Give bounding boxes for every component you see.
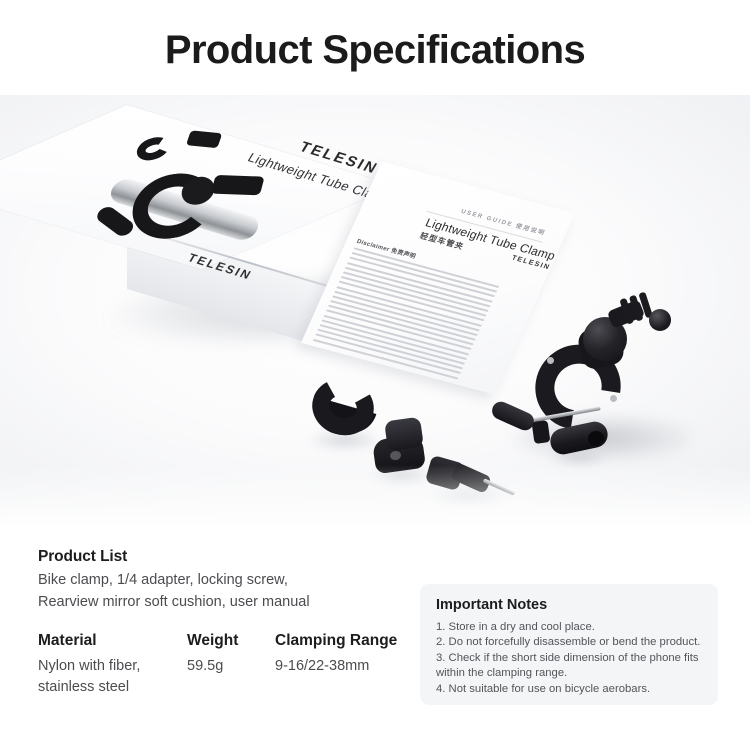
spec-value-material-line-1: Nylon with fiber, <box>38 658 140 674</box>
clamp-pivot-pin-upper <box>547 357 554 364</box>
gopro-mount-thumbscrew <box>649 309 671 331</box>
spec-value-weight: 59.5g <box>187 656 223 677</box>
spec-table: Material Weight Clamping Range Nylon wit… <box>38 632 438 656</box>
spec-value-clamping-range: 9-16/22-38mm <box>275 656 369 677</box>
product-list-line-2: Rearview mirror soft cushion, user manua… <box>38 594 310 610</box>
locking-screw <box>428 453 524 511</box>
spec-header-weight: Weight <box>187 632 238 650</box>
important-note-item: within the clamping range. <box>436 666 703 681</box>
product-list-heading: Product List <box>38 548 438 566</box>
quarter-inch-adapter <box>372 417 438 479</box>
adapter-top <box>384 417 424 452</box>
spec-value-material-line-2: stainless steel <box>38 679 129 695</box>
cushion-ring <box>305 372 380 443</box>
important-notes-card: Important Notes 1. Store in a dry and co… <box>420 584 718 705</box>
tube-barrel-accessory <box>550 421 612 461</box>
locking-screw-pin <box>483 478 516 495</box>
spec-header-clamping-range: Clamping Range <box>275 632 397 650</box>
illustration-knob <box>93 204 136 239</box>
important-note-item: 3. Check if the short side dimension of … <box>436 651 703 666</box>
locking-screw-shadow <box>430 489 506 504</box>
locking-screw-head <box>425 455 465 491</box>
spec-value-material: Nylon with fiber, stainless steel <box>38 656 140 698</box>
rearview-mirror-soft-cushion <box>308 377 382 447</box>
product-photo: TELESIN Lightweight Tube Clamp TELESIN U… <box>0 95 750 535</box>
important-notes-heading: Important Notes <box>436 597 703 613</box>
spec-table-header-row: Material Weight Clamping Range <box>38 632 438 656</box>
product-list-section: Product List Bike clamp, 1/4 adapter, lo… <box>38 548 438 613</box>
important-note-item: 2. Do not forcefully disassemble or bend… <box>436 635 703 650</box>
illustration-cushion-part <box>135 133 172 164</box>
illustration-mount-head <box>211 175 265 195</box>
important-note-item: 4. Not suitable for use on bicycle aerob… <box>436 682 703 697</box>
illustration-adapter-part <box>186 130 222 148</box>
locking-screw-neck <box>450 462 492 494</box>
adapter-shadow <box>372 467 432 483</box>
clamp-pivot-pin-lower <box>610 395 617 402</box>
spec-header-material: Material <box>38 632 97 650</box>
important-note-item: 1. Store in a dry and cool place. <box>436 620 703 635</box>
page-title: Product Specifications <box>0 28 750 73</box>
product-list-line-1: Bike clamp, 1/4 adapter, locking screw, <box>38 572 288 588</box>
clamp-jaw-tip <box>532 420 551 444</box>
